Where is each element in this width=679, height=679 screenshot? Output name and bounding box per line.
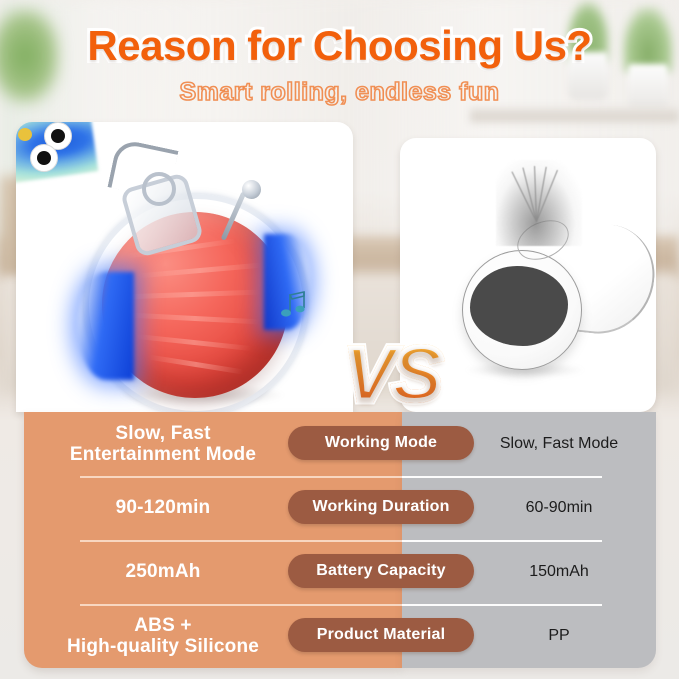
googly-eye [30,144,58,172]
row-label-battery-capacity[interactable]: Battery Capacity [288,554,474,588]
competitor-value: 150mAh [462,540,656,604]
comparison-table: Slow, Fast Entertainment Mode Working Mo… [24,412,656,668]
our-product-image-panel [16,122,353,412]
our-value: ABS + High-quality Silicone [34,604,292,668]
antenna-tip [242,180,261,199]
row-label-working-duration[interactable]: Working Duration [288,490,474,524]
background-shelf [470,108,679,122]
our-product-illustration [16,122,353,412]
table-row: 250mAh Battery Capacity 150mAh [24,540,656,604]
page-subtitle: Smart rolling, endless fun [0,78,679,107]
competitor-ball-patch [470,266,568,346]
feather-bird-toy [16,122,120,192]
our-value: 90-120min [34,476,292,540]
competitor-value: PP [462,604,656,668]
infographic-root: Reason for Choosing Us? Smart rolling, e… [0,0,679,679]
page-title: Reason for Choosing Us? [0,22,679,70]
comparison-rows: Slow, Fast Entertainment Mode Working Mo… [24,412,656,668]
table-row: 90-120min Working Duration 60-90min [24,476,656,540]
our-value: 250mAh [34,540,292,604]
competitor-value: 60-90min [462,476,656,540]
our-value: Slow, Fast Entertainment Mode [34,412,292,476]
competitor-value: Slow, Fast Mode [462,412,656,476]
competitor-feather-plume [496,160,582,246]
music-note-icon [278,290,312,324]
row-label-working-mode[interactable]: Working Mode [288,426,474,460]
row-label-product-material[interactable]: Product Material [288,618,474,652]
table-row: ABS + High-quality Silicone Product Mate… [24,604,656,668]
led-glow-left [78,272,134,380]
bird-beak [18,128,32,141]
vs-badge: VS [330,322,454,426]
